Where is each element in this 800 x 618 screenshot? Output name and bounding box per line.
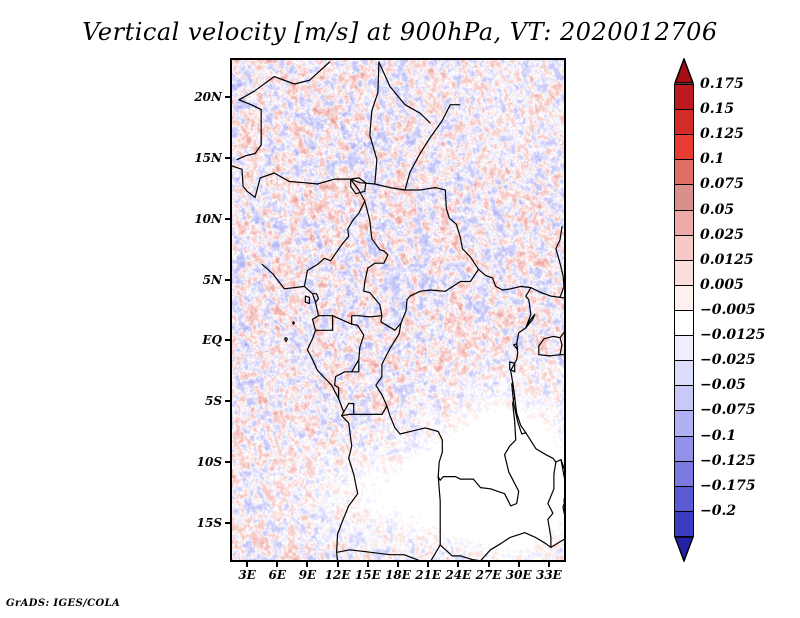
map-boundary-line [560,297,564,337]
colorbar-tick-label: −0.2 [700,503,736,519]
map-boundary-line [548,462,556,547]
colorbar-swatch [674,360,694,387]
y-tick-mark [225,522,231,524]
y-tick-label-10n: 10N [178,212,222,226]
colorbar-swatch [674,235,694,262]
colorbar-arrow-top [674,58,694,84]
colorbar-tick-label: 0.075 [700,176,744,192]
colorbar-tick-label: −0.1 [700,428,736,444]
y-tick-mark [225,279,231,281]
map-boundary-line [304,179,364,286]
x-tick-mark [518,561,520,567]
x-tick-mark [337,561,339,567]
colorbar-tick-label: −0.0125 [700,327,765,343]
footer-credit: GrADS: IGES/COLA [6,598,120,609]
map-boundary-line [560,355,564,375]
colorbar-swatch [674,511,694,538]
colorbar-swatch [674,109,694,136]
map-boundary-line [232,161,247,192]
map-boundary-line [338,550,431,560]
y-tick-label-15n: 15N [178,151,222,165]
x-tick-mark [397,561,399,567]
colorbar-swatch [674,486,694,513]
colorbar-swatch [674,410,694,437]
colorbar-swatch [674,159,694,186]
x-tick-mark [306,561,308,567]
y-tick-mark [225,218,231,220]
colorbar-tick-label: 0.15 [700,101,734,117]
colorbar-swatch [674,134,694,161]
y-tick-label-eq: EQ [178,333,222,347]
map-boundary-line [379,62,430,123]
x-tick-mark [246,561,248,567]
x-tick-mark [367,561,369,567]
map-boundary-line [364,201,479,330]
map-boundary-line [335,324,364,398]
map-boundary-line [293,322,295,324]
map-boundary-line [319,316,382,325]
colorbar-tick-label: 0.025 [700,227,744,243]
x-tick-mark [457,561,459,567]
map-boundary-line [438,477,440,545]
map-plot-area [230,58,566,562]
map-boundary-line [344,404,354,415]
map-boundary-line [376,323,461,480]
map-boundary-line [247,173,351,197]
x-tick-label-33e: 33E [529,568,569,582]
map-boundary-line [556,227,564,298]
map-boundary-line [526,433,564,539]
colorbar-swatch [674,84,694,111]
colorbar-tick-label: −0.005 [700,302,756,318]
colorbar-swatch [674,310,694,337]
colorbar: 0.1750.150.1250.10.0750.050.0250.01250.0… [674,58,694,562]
map-boundary-line [342,406,387,416]
colorbar-tick-label: −0.175 [700,478,756,494]
colorbar-swatch [674,184,694,211]
map-boundary-line [305,296,309,303]
country-borders-overlay [232,60,564,560]
map-boundary-line [539,336,562,356]
colorbar-arrow-bottom [674,536,694,562]
colorbar-tick-label: 0.1 [700,151,724,167]
colorbar-tick-label: −0.025 [700,352,756,368]
x-tick-mark [488,561,490,567]
colorbar-swatch [674,385,694,412]
map-boundary-line [285,338,288,342]
x-tick-mark [276,561,278,567]
y-tick-mark [225,461,231,463]
colorbar-swatch [674,436,694,463]
colorbar-swatch [674,260,694,287]
y-tick-mark [225,157,231,159]
y-tick-mark [225,400,231,402]
colorbar-swatch [674,210,694,237]
colorbar-tick-label: 0.05 [700,202,734,218]
colorbar-tick-label: −0.075 [700,402,756,418]
y-tick-label-5s: 5S [178,394,222,408]
y-tick-label-5n: 5N [178,273,222,287]
colorbar-tick-label: 0.175 [700,76,744,92]
map-boundary-line [237,100,261,160]
map-boundary-line [239,62,330,100]
map-boundary-line [375,184,560,297]
y-tick-label-20n: 20N [178,90,222,104]
colorbar-swatch [674,461,694,488]
x-tick-mark [427,561,429,567]
colorbar-tick-label: 0.005 [700,277,744,293]
map-boundary-line [316,316,333,331]
map-boundary-line [460,404,518,506]
y-tick-mark [225,339,231,341]
page-title: Vertical velocity [m/s] at 900hPa, VT: 2… [0,18,800,46]
colorbar-tick-label: −0.125 [700,453,756,469]
y-tick-mark [225,96,231,98]
y-tick-label-15s: 15S [178,516,222,530]
y-tick-label-10s: 10S [178,455,222,469]
x-tick-mark [548,561,550,567]
colorbar-swatch [674,285,694,312]
map-boundary-line [430,533,564,560]
colorbar-tick-label: 0.125 [700,126,744,142]
map-boundary-line [405,105,459,190]
colorbar-tick-label: −0.05 [700,377,746,393]
colorbar-swatch [674,335,694,362]
map-boundary-line [351,62,379,184]
colorbar-tick-label: 0.0125 [700,252,754,268]
